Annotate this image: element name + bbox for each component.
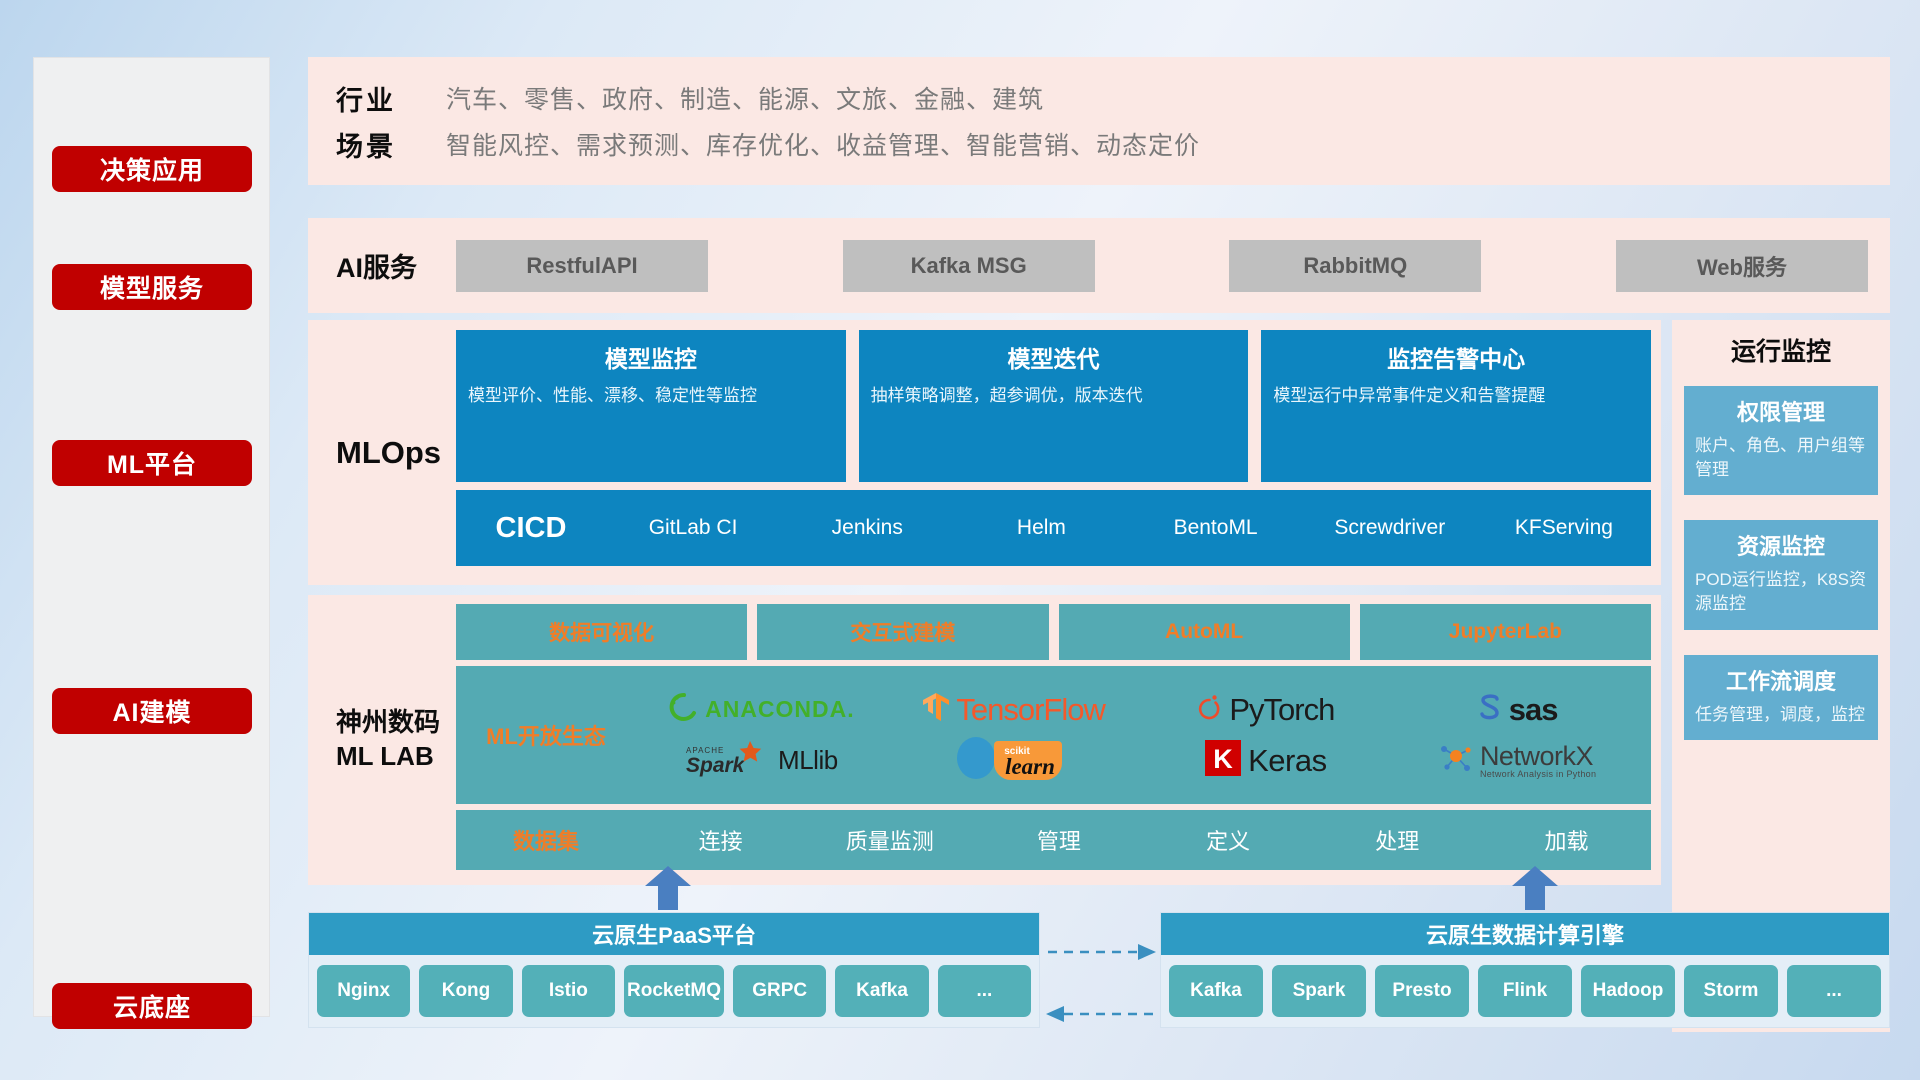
ml-lab-label-line2: ML LAB bbox=[336, 740, 434, 774]
tensorflow-icon bbox=[922, 691, 950, 728]
logo-keras[interactable]: K Keras bbox=[1204, 739, 1326, 782]
logo-anaconda[interactable]: ANACONDA. bbox=[669, 692, 855, 727]
chip-label: Istio bbox=[549, 981, 588, 1002]
lab-tool-label: 交互式建模 bbox=[850, 617, 955, 647]
svg-text:Spark: Spark bbox=[686, 754, 746, 777]
rail-item-label: 云底座 bbox=[113, 988, 191, 1024]
scenario-row: 场景 智能风控、需求预测、库存优化、收益管理、智能营销、动态定价 bbox=[336, 121, 1890, 167]
lab-tool-label: 数据可视化 bbox=[549, 617, 654, 647]
mlops-content: 模型监控 模型评价、性能、漂移、稳定性等监控 模型迭代 抽样策略调整，超参调优，… bbox=[456, 320, 1661, 585]
industry-values: 汽车、零售、政府、制造、能源、文旅、金融、建筑 bbox=[446, 80, 1044, 116]
logo-scikit-learn[interactable]: scikit learn bbox=[954, 735, 1074, 786]
paas-chip-grpc[interactable]: GRPC bbox=[733, 965, 826, 1017]
ai-service-items: RestfulAPI Kafka MSG RabbitMQ Web服务 bbox=[456, 240, 1890, 292]
engine-chip-more[interactable]: ... bbox=[1787, 965, 1881, 1017]
lab-tool-interactive-modeling[interactable]: 交互式建模 bbox=[757, 604, 1048, 660]
card-title: 资源监控 bbox=[1695, 529, 1867, 561]
logo-spark-mllib[interactable]: APACHE Spark MLlib bbox=[686, 739, 838, 782]
pytorch-icon bbox=[1196, 692, 1223, 727]
dataset-item-loading[interactable]: 加载 bbox=[1482, 824, 1651, 856]
dataset-label: 数据集 bbox=[456, 824, 636, 856]
card-title: 工作流调度 bbox=[1695, 664, 1867, 696]
service-chip-restfulapi[interactable]: RestfulAPI bbox=[456, 240, 708, 292]
architecture-diagram: 决策应用 模型服务 ML平台 AI建模 云底座 行业 汽车、零售、政府、制造、能… bbox=[0, 0, 1920, 1080]
svg-text:learn: learn bbox=[1005, 754, 1055, 779]
rail-item-label: 模型服务 bbox=[100, 269, 204, 305]
ml-lab-label-line1: 神州数码 bbox=[336, 706, 440, 740]
card-desc: 账户、角色、用户组等管理 bbox=[1695, 434, 1867, 482]
service-chip-web-service[interactable]: Web服务 bbox=[1616, 240, 1868, 292]
chip-label: Flink bbox=[1503, 981, 1547, 1002]
engine-chip-storm[interactable]: Storm bbox=[1684, 965, 1778, 1017]
dataset-item-quality-monitoring[interactable]: 质量监测 bbox=[805, 824, 974, 856]
rail-item-label: AI建模 bbox=[112, 693, 191, 729]
logo-pytorch[interactable]: PyTorch bbox=[1196, 692, 1334, 728]
engine-chip-hadoop[interactable]: Hadoop bbox=[1581, 965, 1675, 1017]
service-chip-rabbitmq[interactable]: RabbitMQ bbox=[1229, 240, 1481, 292]
industry-label: 行业 bbox=[336, 79, 446, 118]
cloud-engine-title: 云原生数据计算引擎 bbox=[1161, 913, 1889, 955]
logo-label: MLlib bbox=[778, 745, 838, 776]
rail-item-model-service[interactable]: 模型服务 bbox=[52, 264, 252, 310]
logo-label: sas bbox=[1509, 692, 1558, 728]
monitoring-title: 运行监控 bbox=[1684, 332, 1878, 368]
mlops-panel: MLOps 模型监控 模型评价、性能、漂移、稳定性等监控 模型迭代 抽样策略调整… bbox=[308, 320, 1661, 585]
keras-icon: K bbox=[1204, 739, 1242, 782]
service-chip-label: RabbitMQ bbox=[1303, 253, 1407, 279]
rail-item-label: ML平台 bbox=[107, 445, 197, 481]
scenario-values: 智能风控、需求预测、库存优化、收益管理、智能营销、动态定价 bbox=[446, 126, 1200, 162]
layer-rail: 决策应用 模型服务 ML平台 AI建模 云底座 bbox=[33, 57, 270, 1017]
sas-icon bbox=[1477, 692, 1503, 727]
card-desc: 模型运行中异常事件定义和告警提醒 bbox=[1273, 384, 1639, 408]
card-title: 模型监控 bbox=[468, 340, 834, 374]
dataset-items: 连接 质量监测 管理 定义 处理 加载 bbox=[636, 824, 1651, 856]
card-title: 监控告警中心 bbox=[1273, 340, 1639, 374]
rail-item-label: 决策应用 bbox=[100, 151, 204, 187]
scenario-label: 场景 bbox=[336, 125, 446, 164]
mlops-card-model-iteration[interactable]: 模型迭代 抽样策略调整，超参调优，版本迭代 bbox=[859, 330, 1249, 482]
lab-tool-label: AutoML bbox=[1165, 620, 1243, 644]
ml-ecosystem-row: ML开放生态 ANACONDA. bbox=[456, 666, 1651, 804]
chip-label: ... bbox=[1826, 981, 1842, 1002]
chip-label: ... bbox=[976, 981, 992, 1002]
chip-label: Nginx bbox=[337, 981, 390, 1002]
rail-item-decision-application[interactable]: 决策应用 bbox=[52, 146, 252, 192]
cicd-tool-screwdriver[interactable]: Screwdriver bbox=[1303, 516, 1477, 540]
ai-service-panel: AI服务 RestfulAPI Kafka MSG RabbitMQ Web服务 bbox=[308, 218, 1890, 313]
scikit-learn-icon: scikit learn bbox=[954, 735, 1074, 786]
card-title: 模型迭代 bbox=[871, 340, 1237, 374]
mlops-label: MLOps bbox=[336, 320, 456, 585]
chip-label: Spark bbox=[1293, 981, 1346, 1002]
chip-label: Presto bbox=[1392, 981, 1451, 1002]
industry-row: 行业 汽车、零售、政府、制造、能源、文旅、金融、建筑 bbox=[336, 75, 1890, 121]
chip-label: Kong bbox=[442, 981, 491, 1002]
chip-label: Kafka bbox=[1190, 981, 1242, 1002]
dataset-item-connect[interactable]: 连接 bbox=[636, 824, 805, 856]
chip-label: Kafka bbox=[856, 981, 908, 1002]
lab-tool-jupyterlab[interactable]: JupyterLab bbox=[1360, 604, 1651, 660]
cicd-tool-kfserving[interactable]: KFServing bbox=[1477, 516, 1651, 540]
chip-label: RocketMQ bbox=[627, 981, 721, 1002]
card-desc: POD运行监控，K8S资源监控 bbox=[1695, 568, 1867, 616]
cloud-paas-title: 云原生PaaS平台 bbox=[309, 913, 1039, 955]
rail-item-cloud-foundation[interactable]: 云底座 bbox=[52, 983, 252, 1029]
cicd-title: CICD bbox=[456, 512, 606, 545]
paas-chip-more[interactable]: ... bbox=[938, 965, 1031, 1017]
lab-tool-automl[interactable]: AutoML bbox=[1059, 604, 1350, 660]
svg-text:K: K bbox=[1213, 744, 1233, 774]
engine-chip-flink[interactable]: Flink bbox=[1478, 965, 1572, 1017]
engine-chip-presto[interactable]: Presto bbox=[1375, 965, 1469, 1017]
logo-label: TensorFlow bbox=[956, 692, 1105, 728]
anaconda-icon bbox=[669, 692, 699, 727]
mlops-card-model-monitoring[interactable]: 模型监控 模型评价、性能、漂移、稳定性等监控 bbox=[456, 330, 846, 482]
ml-lab-tool-row: 数据可视化 交互式建模 AutoML JupyterLab bbox=[456, 604, 1651, 660]
paas-chip-kafka[interactable]: Kafka bbox=[835, 965, 928, 1017]
paas-chip-kong[interactable]: Kong bbox=[419, 965, 512, 1017]
monitor-card-permission[interactable]: 权限管理 账户、角色、用户组等管理 bbox=[1684, 386, 1878, 495]
cicd-tool-helm[interactable]: Helm bbox=[954, 516, 1128, 540]
logo-sublabel: Network Analysis in Python bbox=[1480, 770, 1596, 779]
chip-label: GRPC bbox=[752, 981, 807, 1002]
logo-label: PyTorch bbox=[1229, 692, 1334, 728]
bidirectional-link-arrows bbox=[1046, 940, 1156, 1026]
service-chip-label: Web服务 bbox=[1697, 250, 1787, 282]
engine-chip-spark[interactable]: Spark bbox=[1272, 965, 1366, 1017]
engine-chip-kafka[interactable]: Kafka bbox=[1169, 965, 1263, 1017]
logo-label: NetworkX bbox=[1480, 742, 1596, 770]
cicd-tool-gitlab-ci[interactable]: GitLab CI bbox=[606, 516, 780, 540]
chip-label: Hadoop bbox=[1593, 981, 1664, 1002]
ml-lab-content: 数据可视化 交互式建模 AutoML JupyterLab ML开放生态 bbox=[456, 595, 1661, 885]
lab-tool-data-visualization[interactable]: 数据可视化 bbox=[456, 604, 747, 660]
cloud-engine-panel: 云原生数据计算引擎 Kafka Spark Presto Flink Hadoo… bbox=[1160, 912, 1890, 1028]
logo-tensorflow[interactable]: TensorFlow bbox=[922, 691, 1105, 728]
rail-item-ai-modeling[interactable]: AI建模 bbox=[52, 688, 252, 734]
ml-ecosystem-logos: ANACONDA. TensorFlow bbox=[636, 684, 1651, 786]
logo-sas[interactable]: sas bbox=[1477, 692, 1558, 728]
card-desc: 模型评价、性能、漂移、稳定性等监控 bbox=[468, 384, 834, 408]
cloud-engine-chips: Kafka Spark Presto Flink Hadoop Storm ..… bbox=[1161, 955, 1889, 1027]
dataset-item-definition[interactable]: 定义 bbox=[1144, 824, 1313, 856]
card-desc: 抽样策略调整，超参调优，版本迭代 bbox=[871, 384, 1237, 408]
monitor-card-resource[interactable]: 资源监控 POD运行监控，K8S资源监控 bbox=[1684, 520, 1878, 629]
ml-lab-label: 神州数码 ML LAB bbox=[336, 595, 456, 885]
cloud-paas-panel: 云原生PaaS平台 Nginx Kong Istio RocketMQ GRPC… bbox=[308, 912, 1040, 1028]
logo-networkx[interactable]: NetworkX Network Analysis in Python bbox=[1438, 740, 1596, 781]
up-arrow-icon-paas bbox=[645, 866, 691, 910]
monitor-card-workflow[interactable]: 工作流调度 任务管理，调度，监控 bbox=[1684, 655, 1878, 740]
ml-lab-panel: 神州数码 ML LAB 数据可视化 交互式建模 AutoML JupyterLa… bbox=[308, 595, 1661, 885]
chip-label: Storm bbox=[1704, 981, 1759, 1002]
cicd-tools: GitLab CI Jenkins Helm BentoML Screwdriv… bbox=[606, 516, 1651, 540]
up-arrow-icon-engine bbox=[1512, 866, 1558, 910]
lab-tool-label: JupyterLab bbox=[1449, 620, 1562, 644]
dataset-item-processing[interactable]: 处理 bbox=[1313, 824, 1482, 856]
service-chip-label: Kafka MSG bbox=[911, 253, 1027, 279]
rail-item-ml-platform[interactable]: ML平台 bbox=[52, 440, 252, 486]
application-layer-panel: 行业 汽车、零售、政府、制造、能源、文旅、金融、建筑 场景 智能风控、需求预测、… bbox=[308, 57, 1890, 185]
service-chip-label: RestfulAPI bbox=[526, 253, 637, 279]
ml-ecosystem-label: ML开放生态 bbox=[456, 719, 636, 751]
cloud-paas-chips: Nginx Kong Istio RocketMQ GRPC Kafka ... bbox=[309, 955, 1039, 1027]
card-title: 权限管理 bbox=[1695, 395, 1867, 427]
logo-label: ANACONDA. bbox=[705, 696, 855, 723]
card-desc: 任务管理，调度，监控 bbox=[1695, 703, 1867, 727]
service-chip-kafka-msg[interactable]: Kafka MSG bbox=[843, 240, 1095, 292]
logo-label: Keras bbox=[1248, 743, 1326, 779]
ai-service-label: AI服务 bbox=[336, 246, 456, 285]
dataset-item-management[interactable]: 管理 bbox=[974, 824, 1143, 856]
networkx-icon bbox=[1438, 740, 1474, 781]
cicd-row: CICD GitLab CI Jenkins Helm BentoML Scre… bbox=[456, 490, 1651, 566]
spark-icon: APACHE Spark bbox=[686, 739, 772, 782]
dataset-row: 数据集 连接 质量监测 管理 定义 处理 加载 bbox=[456, 810, 1651, 870]
paas-chip-istio[interactable]: Istio bbox=[522, 965, 615, 1017]
mlops-card-alert-center[interactable]: 监控告警中心 模型运行中异常事件定义和告警提醒 bbox=[1261, 330, 1651, 482]
cicd-tool-jenkins[interactable]: Jenkins bbox=[780, 516, 954, 540]
mlops-card-row: 模型监控 模型评价、性能、漂移、稳定性等监控 模型迭代 抽样策略调整，超参调优，… bbox=[456, 330, 1651, 482]
paas-chip-rocketmq[interactable]: RocketMQ bbox=[624, 965, 724, 1017]
paas-chip-nginx[interactable]: Nginx bbox=[317, 965, 410, 1017]
cicd-tool-bentoml[interactable]: BentoML bbox=[1129, 516, 1303, 540]
